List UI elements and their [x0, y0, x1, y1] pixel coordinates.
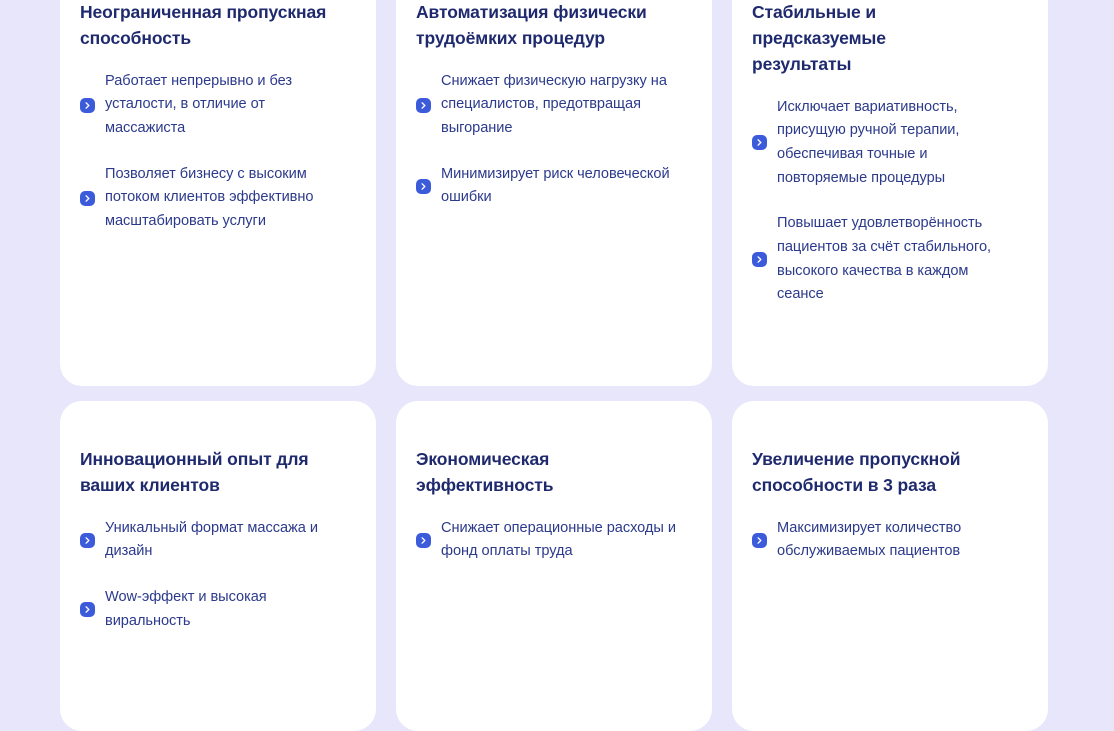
chevron-right-icon: [752, 135, 767, 150]
benefit-bullet-item: Уникальный формат массажа и дизайн: [80, 517, 346, 564]
benefit-bullet-text: Позволяет бизнесу с высоким потоком клие…: [105, 163, 345, 234]
benefit-bullet-text: Минимизирует риск человеческой ошибки: [441, 163, 681, 210]
benefit-card-cost-efficiency[interactable]: Экономическая эффективность Снижает опер…: [396, 401, 712, 731]
benefit-card-innovative-experience[interactable]: Инновационный опыт для ваших клиентов Ун…: [60, 401, 376, 731]
benefit-card-stable-results[interactable]: Стабильные и предсказуемые результаты Ис…: [732, 0, 1048, 386]
benefit-bullet-text: Снижает физическую нагрузку на специалис…: [441, 70, 681, 141]
benefit-bullet-item: Максимизирует количество обслуживаемых п…: [752, 517, 1018, 564]
benefits-section: Неограниченная пропускная способность Ра…: [0, 0, 1114, 626]
chevron-right-icon: [752, 533, 767, 548]
benefits-card-grid: Неограниченная пропускная способность Ра…: [60, 0, 1054, 731]
benefit-bullet-item: Снижает физическую нагрузку на специалис…: [416, 70, 682, 141]
chevron-right-icon: [80, 602, 95, 617]
benefit-card-throughput-3x[interactable]: Увеличение пропускной способности в 3 ра…: [732, 401, 1048, 731]
benefit-card-title: Автоматизация физически трудоёмких проце…: [416, 0, 678, 52]
benefit-card-title: Экономическая эффективность: [416, 447, 566, 499]
chevron-right-icon: [416, 179, 431, 194]
benefit-bullet-item: Снижает операционные расходы и фонд опла…: [416, 517, 682, 564]
chevron-right-icon: [80, 191, 95, 206]
benefit-bullet-item: Wow-эффект и высокая виральность: [80, 586, 346, 633]
benefit-bullet-list: Уникальный формат массажа и дизайн Wow-э…: [80, 517, 346, 634]
benefit-card-title: Неограниченная пропускная способность: [80, 0, 342, 52]
benefit-bullet-text: Максимизирует количество обслуживаемых п…: [777, 517, 1017, 564]
benefit-bullet-text: Wow-эффект и высокая виральность: [105, 586, 345, 633]
benefit-bullet-item: Повышает удовлетворённость пациентов за …: [752, 212, 1018, 307]
benefit-bullet-item: Позволяет бизнесу с высоким потоком клие…: [80, 163, 346, 234]
chevron-right-icon: [80, 533, 95, 548]
benefit-bullet-list: Работает непрерывно и без усталости, в о…: [80, 70, 346, 234]
benefit-bullet-list: Снижает операционные расходы и фонд опла…: [416, 517, 682, 564]
benefit-card-unlimited-throughput[interactable]: Неограниченная пропускная способность Ра…: [60, 0, 376, 386]
benefit-bullet-list: Исключает вариативность, присущую ручной…: [752, 96, 1018, 307]
benefit-card-automation[interactable]: Автоматизация физически трудоёмких проце…: [396, 0, 712, 386]
benefit-bullet-item: Работает непрерывно и без усталости, в о…: [80, 70, 346, 141]
benefit-card-title: Стабильные и предсказуемые результаты: [752, 0, 902, 78]
benefit-bullet-text: Повышает удовлетворённость пациентов за …: [777, 212, 1017, 307]
benefit-bullet-text: Работает непрерывно и без усталости, в о…: [105, 70, 345, 141]
benefit-bullet-list: Снижает физическую нагрузку на специалис…: [416, 70, 682, 210]
chevron-right-icon: [416, 533, 431, 548]
benefit-bullet-text: Снижает операционные расходы и фонд опла…: [441, 517, 681, 564]
benefit-bullet-text: Исключает вариативность, присущую ручной…: [777, 96, 1017, 191]
benefit-bullet-text: Уникальный формат массажа и дизайн: [105, 517, 345, 564]
chevron-right-icon: [752, 252, 767, 267]
chevron-right-icon: [80, 98, 95, 113]
benefit-card-title: Увеличение пропускной способности в 3 ра…: [752, 447, 1014, 499]
benefit-card-title: Инновационный опыт для ваших клиентов: [80, 447, 342, 499]
chevron-right-icon: [416, 98, 431, 113]
benefit-bullet-item: Исключает вариативность, присущую ручной…: [752, 96, 1018, 191]
benefit-bullet-item: Минимизирует риск человеческой ошибки: [416, 163, 682, 210]
benefit-bullet-list: Максимизирует количество обслуживаемых п…: [752, 517, 1018, 564]
